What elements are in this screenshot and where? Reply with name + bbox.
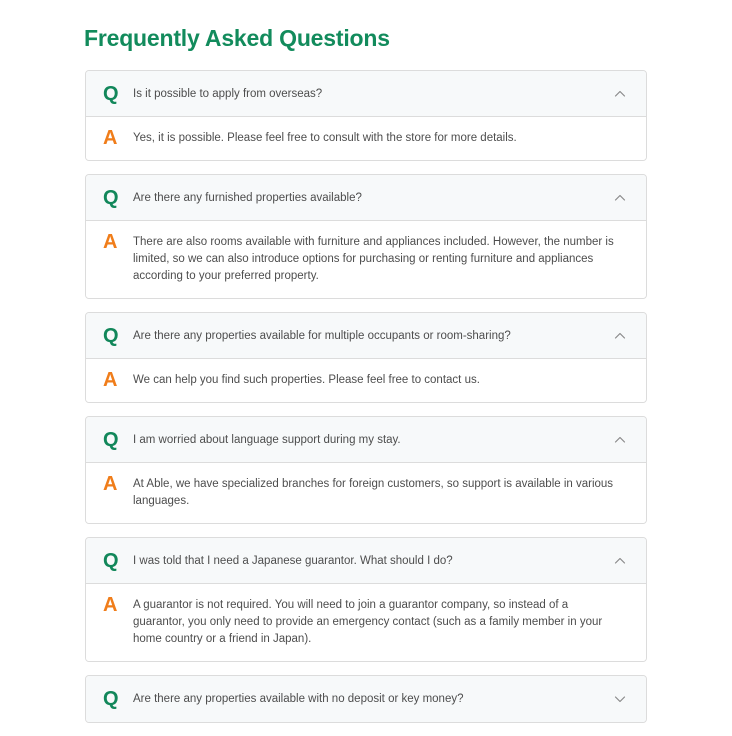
- faq-answer-body: A Yes, it is possible. Please feel free …: [86, 117, 646, 160]
- faq-question-header[interactable]: Q I am worried about language support du…: [86, 417, 646, 463]
- faq-item: Q I was told that I need a Japanese guar…: [85, 537, 647, 662]
- faq-question-text: I was told that I need a Japanese guaran…: [129, 553, 612, 569]
- question-mark-icon: Q: [103, 688, 129, 710]
- answer-mark-icon: A: [103, 475, 129, 493]
- question-mark-icon: Q: [103, 187, 129, 209]
- answer-mark-icon: A: [103, 596, 129, 614]
- question-mark-icon: Q: [103, 429, 129, 451]
- chevron-up-icon[interactable]: [612, 432, 628, 448]
- faq-question-text: Are there any properties available with …: [129, 691, 612, 707]
- faq-accordion-list: Q Is it possible to apply from overseas?…: [85, 70, 647, 736]
- chevron-up-icon[interactable]: [612, 86, 628, 102]
- faq-answer-body: A A guarantor is not required. You will …: [86, 584, 646, 661]
- faq-item: Q Are there any properties available for…: [85, 312, 647, 403]
- chevron-up-icon[interactable]: [612, 190, 628, 206]
- faq-answer-body: A At Able, we have specialized branches …: [86, 463, 646, 523]
- question-mark-icon: Q: [103, 550, 129, 572]
- faq-item: Q I am worried about language support du…: [85, 416, 647, 524]
- faq-question-text: I am worried about language support duri…: [129, 432, 612, 448]
- page-title: Frequently Asked Questions: [84, 23, 390, 53]
- faq-page: Frequently Asked Questions Q Is it possi…: [0, 0, 732, 686]
- question-mark-icon: Q: [103, 83, 129, 105]
- faq-answer-text: At Able, we have specialized branches fo…: [129, 476, 628, 510]
- faq-item: Q Is it possible to apply from overseas?…: [85, 70, 647, 161]
- faq-answer-body: A We can help you find such properties. …: [86, 359, 646, 402]
- question-mark-icon: Q: [103, 325, 129, 347]
- faq-answer-text: Yes, it is possible. Please feel free to…: [129, 130, 628, 147]
- faq-item: Q Are there any properties available wit…: [85, 675, 647, 723]
- faq-answer-body: A There are also rooms available with fu…: [86, 221, 646, 298]
- chevron-down-icon[interactable]: [612, 691, 628, 707]
- faq-item: Q Are there any furnished properties ava…: [85, 174, 647, 299]
- faq-answer-text: We can help you find such properties. Pl…: [129, 372, 628, 389]
- faq-question-header[interactable]: Q Is it possible to apply from overseas?: [86, 71, 646, 117]
- faq-question-text: Are there any properties available for m…: [129, 328, 612, 344]
- faq-question-text: Are there any furnished properties avail…: [129, 190, 612, 206]
- chevron-up-icon[interactable]: [612, 328, 628, 344]
- answer-mark-icon: A: [103, 233, 129, 251]
- faq-answer-text: There are also rooms available with furn…: [129, 234, 628, 285]
- chevron-up-icon[interactable]: [612, 553, 628, 569]
- answer-mark-icon: A: [103, 129, 129, 147]
- faq-question-header[interactable]: Q I was told that I need a Japanese guar…: [86, 538, 646, 584]
- faq-question-text: Is it possible to apply from overseas?: [129, 86, 612, 102]
- faq-answer-text: A guarantor is not required. You will ne…: [129, 597, 628, 648]
- answer-mark-icon: A: [103, 371, 129, 389]
- faq-question-header[interactable]: Q Are there any furnished properties ava…: [86, 175, 646, 221]
- faq-question-header[interactable]: Q Are there any properties available for…: [86, 313, 646, 359]
- faq-question-header[interactable]: Q Are there any properties available wit…: [86, 676, 646, 722]
